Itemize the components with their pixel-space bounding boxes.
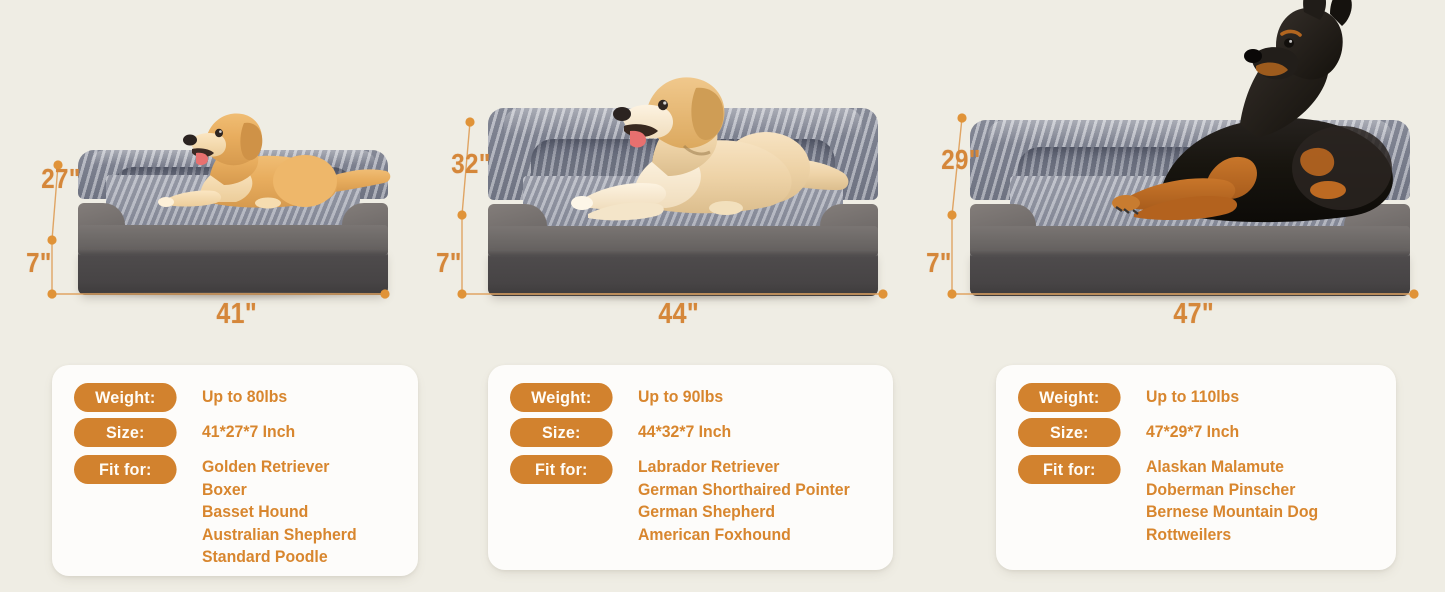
dimension-depth-label-large: 27" <box>41 163 80 195</box>
spec-label-weight: Weight: <box>74 383 177 412</box>
spec-value-breeds: Labrador Retriever German Shorthaired Po… <box>638 453 850 546</box>
spec-label-weight: Weight: <box>510 383 613 412</box>
spec-row-size: Size: 47*29*7 Inch <box>1018 418 1376 447</box>
spec-value-breeds: Alaskan Malamute Doberman Pinscher Berne… <box>1146 453 1318 546</box>
dimension-height-label-large: 7" <box>26 247 52 279</box>
spec-card-large: Weight: Up to 80lbs Size: 41*27*7 Inch F… <box>52 365 418 576</box>
spec-row-size: Size: 44*32*7 Inch <box>510 418 873 447</box>
spec-row-weight: Weight: Up to 90lbs <box>510 383 873 412</box>
breed-item: Alaskan Malamute <box>1146 456 1318 479</box>
spec-value-breeds: Golden Retriever Boxer Basset Hound Aust… <box>202 453 357 569</box>
breed-item: American Foxhound <box>638 524 850 547</box>
breed-item: Basset Hound <box>202 501 357 524</box>
breed-item: Rottweilers <box>1146 524 1318 547</box>
dimension-width-label-large: 41" <box>216 298 257 331</box>
bed-base-slab <box>970 250 1410 296</box>
dog-labrador-retriever <box>560 72 860 237</box>
spec-row-weight: Weight: Up to 110lbs <box>1018 383 1376 412</box>
breed-item: German Shorthaired Pointer <box>638 479 850 502</box>
breed-item: Bernese Mountain Dog <box>1146 501 1318 524</box>
breed-item: German Shepherd <box>638 501 850 524</box>
product-panel-large: 27" 7" 41" <box>30 0 430 360</box>
spec-label-fit: Fit for: <box>1018 455 1121 484</box>
breed-item: Australian Shepherd <box>202 524 357 547</box>
dimension-height-label-xlarge: 7" <box>436 247 462 279</box>
spec-value-weight: Up to 90lbs <box>638 383 723 409</box>
product-panel-xlarge: 32" 7" 44" <box>440 0 910 360</box>
dog-doberman-pinscher <box>1090 2 1420 237</box>
spec-label-size: Size: <box>1018 418 1121 447</box>
spec-card-jumbo: Weight: Up to 110lbs Size: 47*29*7 Inch … <box>996 365 1396 570</box>
dog-golden-retriever <box>140 105 395 220</box>
spec-value-weight: Up to 80lbs <box>202 383 287 409</box>
spec-label-size: Size: <box>510 418 613 447</box>
dimension-width-label-jumbo: 47" <box>1173 298 1214 331</box>
spec-row-fit: Fit for: Labrador Retriever German Short… <box>510 453 873 546</box>
spec-card-xlarge: Weight: Up to 90lbs Size: 44*32*7 Inch F… <box>488 365 893 570</box>
spec-value-size: 41*27*7 Inch <box>202 418 295 444</box>
spec-label-fit: Fit for: <box>510 455 613 484</box>
bed-base-slab <box>78 249 388 295</box>
dimension-depth-label-xlarge: 32" <box>451 148 490 180</box>
spec-row-weight: Weight: Up to 80lbs <box>74 383 398 412</box>
product-panel-jumbo: 29" 7" 47" <box>930 0 1430 360</box>
breed-item: Labrador Retriever <box>638 456 850 479</box>
breed-item: Golden Retriever <box>202 456 357 479</box>
spec-value-weight: Up to 110lbs <box>1146 383 1239 409</box>
breed-item: Doberman Pinscher <box>1146 479 1318 502</box>
spec-label-fit: Fit for: <box>74 455 177 484</box>
spec-label-weight: Weight: <box>1018 383 1121 412</box>
spec-label-size: Size: <box>74 418 177 447</box>
breed-item: Standard Poodle <box>202 546 357 569</box>
spec-row-size: Size: 41*27*7 Inch <box>74 418 398 447</box>
size-chart-infographic: 27" 7" 41" <box>0 0 1445 592</box>
bed-base-slab <box>488 250 878 296</box>
spec-row-fit: Fit for: Golden Retriever Boxer Basset H… <box>74 453 398 569</box>
spec-row-fit: Fit for: Alaskan Malamute Doberman Pinsc… <box>1018 453 1376 546</box>
spec-value-size: 44*32*7 Inch <box>638 418 731 444</box>
dimension-width-label-xlarge: 44" <box>658 298 699 331</box>
breed-item: Boxer <box>202 479 357 502</box>
spec-value-size: 47*29*7 Inch <box>1146 418 1239 444</box>
dimension-height-label-jumbo: 7" <box>926 247 952 279</box>
